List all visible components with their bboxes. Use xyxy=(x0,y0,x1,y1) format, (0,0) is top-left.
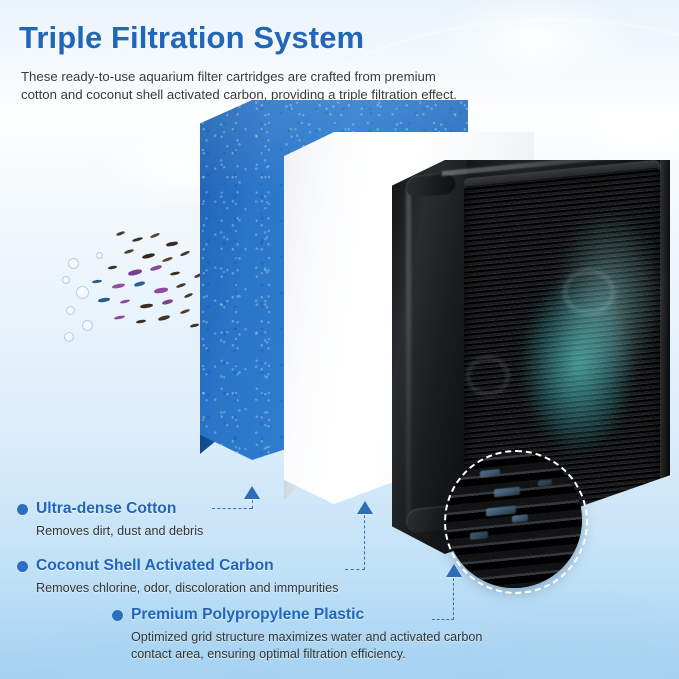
page-title: Triple Filtration System xyxy=(19,20,364,56)
callout-1-title: Ultra-dense Cotton xyxy=(36,500,176,518)
callout-3-title-row: Premium Polypropylene Plastic xyxy=(112,606,521,624)
callout-premium-polypropylene-plastic: Premium Polypropylene Plastic Optimized … xyxy=(112,606,521,663)
callout-2-description: Removes chlorine, odor, discoloration an… xyxy=(36,580,338,597)
leader-arrow-3 xyxy=(446,564,462,577)
bullet-dot-icon xyxy=(112,610,123,621)
leader-line-1-stub xyxy=(252,500,253,509)
leader-arrow-2 xyxy=(357,501,373,514)
callout-2-title: Coconut Shell Activated Carbon xyxy=(36,557,274,575)
callout-1-description: Removes dirt, dust and debris xyxy=(36,523,203,540)
leader-line-2-vertical xyxy=(364,515,365,570)
callout-2-title-row: Coconut Shell Activated Carbon xyxy=(17,557,338,575)
bullet-dot-icon xyxy=(17,561,28,572)
callout-1-title-row: Ultra-dense Cotton xyxy=(17,500,203,518)
leader-line-2 xyxy=(345,569,365,570)
callout-ultra-dense-cotton: Ultra-dense Cotton Removes dirt, dust an… xyxy=(17,500,203,540)
bullet-dot-icon xyxy=(17,504,28,515)
frame-rail-highlight xyxy=(406,187,411,518)
callout-coconut-shell-activated-carbon: Coconut Shell Activated Carbon Removes c… xyxy=(17,557,338,597)
magnified-grid-detail xyxy=(446,452,582,588)
callout-3-title: Premium Polypropylene Plastic xyxy=(131,606,364,624)
leader-arrow-1 xyxy=(244,486,260,499)
callout-3-description: Optimized grid structure maximizes water… xyxy=(131,629,521,663)
infographic-canvas: Triple Filtration System These ready-to-… xyxy=(0,0,679,679)
leader-line-1 xyxy=(212,508,252,509)
page-subtitle: These ready-to-use aquarium filter cartr… xyxy=(21,68,461,104)
